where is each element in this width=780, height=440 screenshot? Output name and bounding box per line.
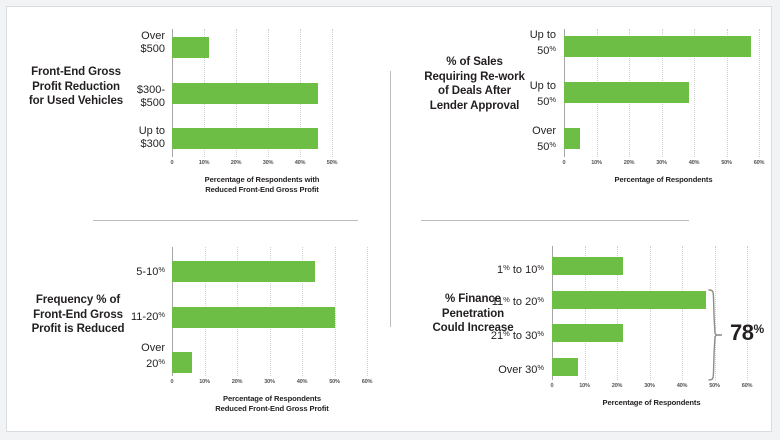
x-axis-title-line: Percentage of Respondents [564, 175, 763, 185]
category-label-1: Up to 50% [494, 80, 556, 109]
category-label-1: 11-20% [97, 308, 165, 324]
category-label-line: $500 [103, 43, 165, 56]
bar-row-2 [564, 128, 763, 149]
x-axis-title-line: Reduced Front-End Gross Profit [157, 185, 367, 195]
chart-frequency-profit-reduced: 0 10% 20% 30% 40% 50% 60% Percentage of … [172, 247, 371, 376]
panel-front-end-gross-profit-reduction: Front-End Gross Profit Reduction for Use… [7, 7, 390, 220]
xtick-4: 40% [297, 379, 308, 385]
bar-row-1 [172, 83, 352, 104]
category-label-0: 1% to 10% [462, 261, 544, 277]
category-label-0: Up to 50% [494, 29, 556, 58]
brace-annotation [707, 289, 725, 381]
category-label-line: 5-10% [103, 263, 165, 279]
bar-row-1 [172, 307, 371, 328]
category-label-line: 11-20% [97, 308, 165, 324]
xtick-6: 60% [742, 383, 753, 389]
category-label-line: Over [494, 125, 556, 138]
bar-row-0 [564, 36, 763, 57]
panel-sales-requiring-re-work: % of Sales Requiring Re-work of Deals Af… [390, 7, 773, 220]
x-axis-title-line: Percentage of Respondents [167, 394, 377, 404]
category-label-line: 50% [494, 93, 556, 109]
xtick-5: 50% [329, 379, 340, 385]
category-label-line: 11% to 20% [458, 293, 544, 309]
plot-area [172, 29, 352, 157]
panel-finance-penetration: % Finance Penetration Could Increase 1% … [390, 220, 773, 433]
xtick-4: 40% [677, 383, 688, 389]
xtick-2: 20% [624, 160, 635, 166]
bar-3[interactable] [552, 358, 578, 376]
bar-1[interactable] [172, 307, 335, 328]
xtick-0: 0 [563, 160, 566, 166]
bar-1[interactable] [172, 83, 318, 104]
plot-area [172, 247, 371, 376]
category-label-line: 21% to 30% [458, 327, 544, 343]
bar-row-1 [564, 82, 763, 103]
xtick-1: 10% [199, 160, 210, 166]
bar-0[interactable] [172, 261, 315, 282]
category-label-2: 21% to 30% [458, 327, 544, 343]
panel-title-line-1: Frequency % of [11, 293, 145, 308]
panel-title-line-1: Front-End Gross [11, 65, 141, 80]
chart-sales-requiring-re-work: 0 10% 20% 30% 40% 50% 60% Percentage of … [564, 29, 763, 157]
bar-1[interactable] [564, 82, 689, 103]
chart-front-end-gross-profit-reduction: 0 10% 20% 30% 40% 50% Percentage of Resp… [172, 29, 352, 157]
category-label-2: Over 50% [494, 125, 556, 154]
category-label-line: Up to [494, 29, 556, 42]
xtick-0: 0 [171, 160, 174, 166]
category-label-line: Up to [103, 125, 165, 138]
xtick-1: 10% [591, 160, 602, 166]
bar-row-0 [172, 37, 352, 58]
category-label-line: 20% [103, 355, 165, 371]
bar-row-2 [172, 128, 352, 149]
xtick-2: 20% [612, 383, 623, 389]
bar-0[interactable] [172, 37, 209, 58]
xtick-5: 50% [327, 160, 338, 166]
xtick-4: 40% [689, 160, 700, 166]
category-label-line: 50% [494, 42, 556, 58]
x-axis-title: Percentage of Respondents Reduced Front-… [167, 394, 377, 414]
plot-area [564, 29, 763, 157]
category-label-0: 5-10% [103, 263, 165, 279]
category-label-line: 1% to 10% [462, 261, 544, 277]
category-label-1: 11% to 20% [458, 293, 544, 309]
chart-finance-penetration: 0 10% 20% 30% 40% 50% 60% Percentage of … [552, 246, 751, 380]
category-label-line: $300 [103, 138, 165, 151]
xtick-3: 30% [263, 160, 274, 166]
category-label-line: Over [103, 30, 165, 43]
bar-0[interactable] [564, 36, 751, 57]
callout-suffix: % [753, 322, 763, 336]
xtick-3: 30% [644, 383, 655, 389]
bar-row-2 [172, 352, 371, 373]
xtick-0: 0 [551, 383, 554, 389]
category-label-line: Over 30% [462, 361, 544, 377]
category-label-line: Up to [494, 80, 556, 93]
callout-78-percent: 78% [730, 320, 764, 346]
category-label-2: Up to $300 [103, 125, 165, 151]
bar-1[interactable] [552, 291, 706, 309]
charts-grid: Front-End Gross Profit Reduction for Use… [7, 7, 771, 431]
category-label-line: Over [103, 342, 165, 355]
x-axis-title-line: Reduced Front-End Gross Profit [167, 404, 377, 414]
category-label-line: $500 [103, 97, 165, 110]
x-axis-title-line: Percentage of Respondents [552, 398, 751, 408]
bar-row-0 [552, 257, 751, 275]
xtick-3: 30% [656, 160, 667, 166]
slide-canvas: Front-End Gross Profit Reduction for Use… [6, 6, 772, 432]
category-label-line: 50% [494, 138, 556, 154]
xtick-6: 60% [754, 160, 765, 166]
xtick-1: 10% [579, 383, 590, 389]
xtick-2: 20% [231, 160, 242, 166]
x-axis-title: Percentage of Respondents with Reduced F… [157, 175, 367, 195]
xtick-6: 60% [362, 379, 373, 385]
bar-2[interactable] [564, 128, 580, 149]
xtick-3: 30% [264, 379, 275, 385]
x-axis-title: Percentage of Respondents [564, 175, 763, 185]
xtick-2: 20% [232, 379, 243, 385]
xtick-4: 40% [295, 160, 306, 166]
x-axis-title: Percentage of Respondents [552, 398, 751, 408]
category-label-0: Over $500 [103, 30, 165, 56]
bar-2[interactable] [172, 352, 192, 373]
panel-title-line-3: Profit is Reduced [11, 322, 145, 337]
xtick-5: 50% [721, 160, 732, 166]
category-label-3: Over 30% [462, 361, 544, 377]
xtick-5: 50% [709, 383, 720, 389]
bar-row-0 [172, 261, 371, 282]
callout-value: 78 [730, 320, 753, 345]
xtick-0: 0 [171, 379, 174, 385]
x-axis-title-line: Percentage of Respondents with [157, 175, 367, 185]
bar-0[interactable] [552, 257, 623, 275]
panel-frequency-profit-reduced: Frequency % of Front-End Gross Profit is… [7, 220, 390, 433]
category-label-1: $300- $500 [103, 84, 165, 110]
bar-2[interactable] [172, 128, 318, 149]
category-label-line: $300- [103, 84, 165, 97]
xtick-1: 10% [199, 379, 210, 385]
bar-2[interactable] [552, 324, 623, 342]
category-label-2: Over 20% [103, 342, 165, 371]
